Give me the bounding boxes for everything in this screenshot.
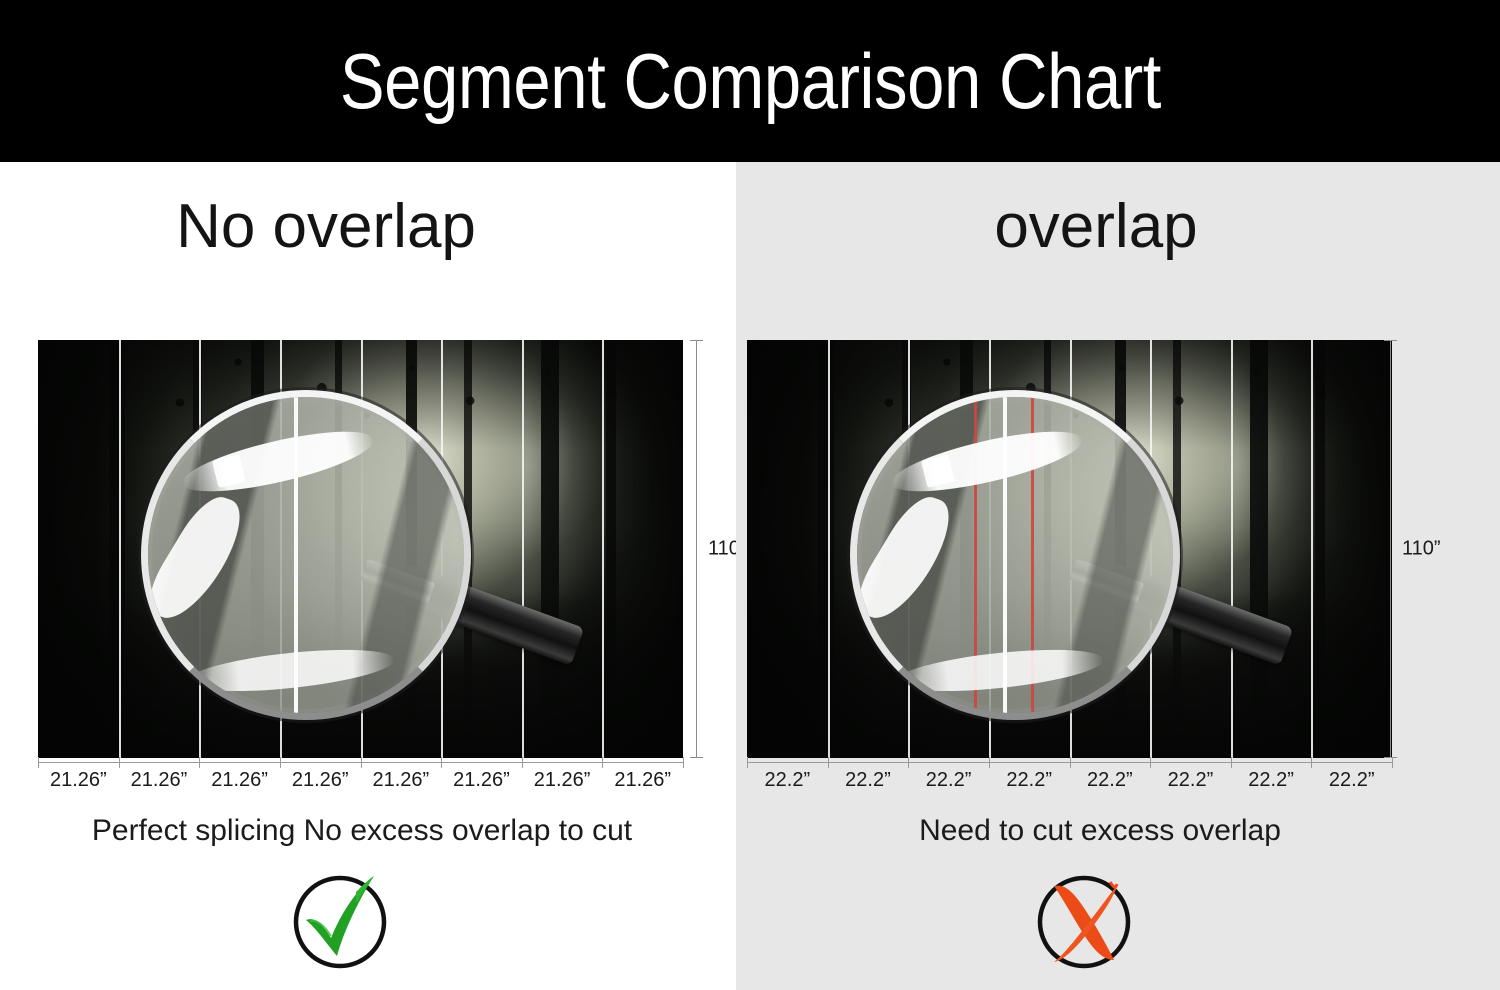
dimension-tick <box>747 757 748 768</box>
segment-seam <box>522 340 524 758</box>
dimension-line <box>696 340 697 758</box>
title-band: Segment Comparison Chart <box>0 0 1500 162</box>
dimension-tick <box>522 757 523 768</box>
segment-width-label: 22.2” <box>908 769 989 792</box>
dimension-tick <box>690 340 703 341</box>
segment-seam <box>908 340 910 758</box>
segment-width-label: 21.26” <box>361 769 442 792</box>
dimension-tick <box>908 757 909 768</box>
mural-preview-right <box>747 340 1392 758</box>
caption-right: Need to cut excess overlap <box>718 814 1482 848</box>
dimension-tick <box>989 757 990 768</box>
dimension-tick <box>828 757 829 768</box>
segment-width-label: 22.2” <box>989 769 1070 792</box>
mural-preview-left <box>38 340 683 758</box>
comparison-panels: No overlap <box>0 162 1500 990</box>
green-check-badge <box>290 868 394 972</box>
dimension-tick <box>119 757 120 768</box>
segment-seam <box>1311 340 1313 758</box>
segment-width-label: 21.26” <box>522 769 603 792</box>
page-title: Segment Comparison Chart <box>339 42 1160 120</box>
dimension-tick <box>602 757 603 768</box>
segment-width-label: 22.2” <box>1231 769 1312 792</box>
height-label-right: 110” <box>1402 538 1441 561</box>
segment-seam <box>1150 340 1152 758</box>
segment-width-label: 21.26” <box>280 769 361 792</box>
segment-dimensions-right: 22.2” 22.2” 22.2” 22.2” 22.2” 22.2” 22.2… <box>747 762 1392 808</box>
dimension-line <box>1390 340 1391 758</box>
segment-comparison-chart: Segment Comparison Chart No overlap <box>0 0 1500 990</box>
panel-overlap: overlap <box>736 162 1500 990</box>
dimension-tick <box>690 757 703 758</box>
caption-left: Perfect splicing No excess overlap to cu… <box>0 814 730 848</box>
dimension-tick <box>1070 757 1071 768</box>
panel-heading-right: overlap <box>714 196 1478 258</box>
dimension-tick <box>1150 757 1151 768</box>
segment-width-label: 21.26” <box>441 769 522 792</box>
segment-seams-right <box>747 340 1392 758</box>
dimension-tick <box>1384 340 1397 341</box>
dimension-tick <box>280 757 281 768</box>
dimension-tick <box>1384 757 1397 758</box>
segment-width-label: 22.2” <box>747 769 828 792</box>
segment-width-label: 21.26” <box>38 769 119 792</box>
segment-seam <box>441 340 443 758</box>
dimension-tick <box>441 757 442 768</box>
segment-width-label: 21.26” <box>199 769 280 792</box>
forest-photo-right <box>747 340 1392 758</box>
segment-seams-left <box>38 340 683 758</box>
segment-seam <box>199 340 201 758</box>
dimension-tick <box>1231 757 1232 768</box>
segment-seam <box>1231 340 1233 758</box>
segment-width-label: 21.26” <box>602 769 683 792</box>
segment-seam <box>280 340 282 758</box>
segment-width-label: 22.2” <box>828 769 909 792</box>
dimension-tick <box>38 757 39 768</box>
dimension-tick <box>199 757 200 768</box>
dimension-tick <box>1311 757 1312 768</box>
dimension-tick <box>361 757 362 768</box>
dimension-tick <box>1392 757 1393 768</box>
segment-dimensions-left: 21.26” 21.26” 21.26” 21.26” 21.26” 21.26… <box>38 762 683 808</box>
segment-width-label: 21.26” <box>119 769 200 792</box>
dimension-tick <box>683 757 684 768</box>
forest-photo-left <box>38 340 683 758</box>
segment-width-label: 22.2” <box>1070 769 1151 792</box>
segment-seam <box>119 340 121 758</box>
segment-width-label: 22.2” <box>1150 769 1231 792</box>
segment-seam <box>989 340 991 758</box>
red-cross-badge <box>1034 868 1138 972</box>
segment-seam <box>828 340 830 758</box>
segment-width-label: 22.2” <box>1311 769 1392 792</box>
panel-heading-left: No overlap <box>0 196 694 258</box>
segment-seam <box>602 340 604 758</box>
segment-seam <box>1070 340 1072 758</box>
segment-seam <box>361 340 363 758</box>
panel-no-overlap: No overlap <box>0 162 736 990</box>
